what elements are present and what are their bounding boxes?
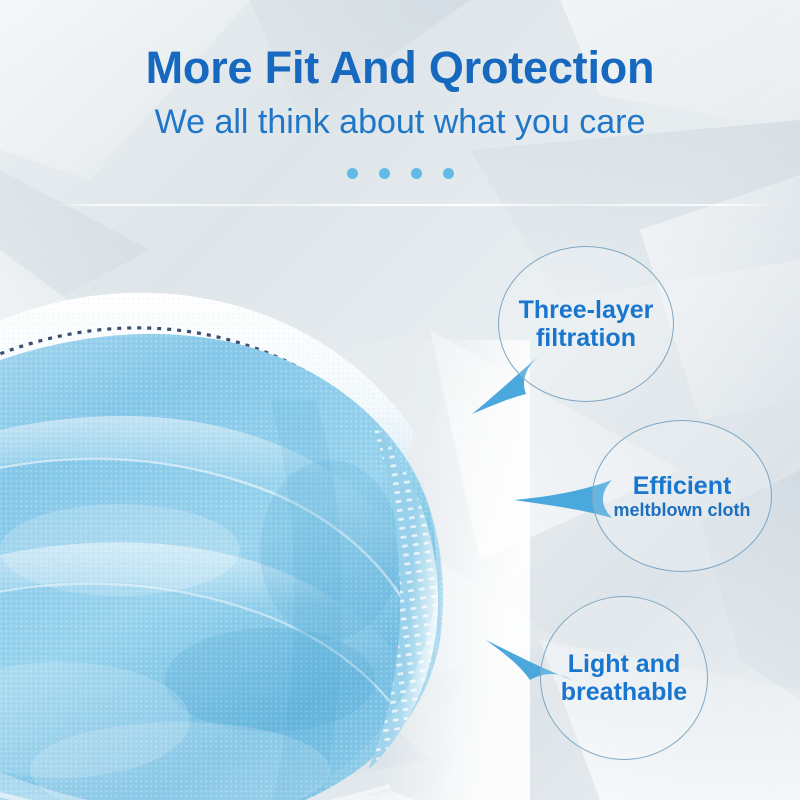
callout-efficient-meltblown-cloth[interactable]: Efficient meltblown cloth — [592, 420, 777, 585]
dot-icon — [379, 168, 390, 179]
page-subtitle: We all think about what you care — [0, 103, 800, 142]
callout-text: Light and breathable — [561, 650, 687, 706]
dot-icon — [443, 168, 454, 179]
callout-three-layer-filtration[interactable]: Three-layer filtration — [498, 246, 678, 426]
dot-icon — [347, 168, 358, 179]
decorative-dots — [0, 168, 800, 179]
callout-circle: Light and breathable — [540, 596, 708, 760]
callout-circle: Three-layer filtration — [498, 246, 674, 402]
callout-light-and-breathable[interactable]: Light and breathable — [540, 596, 715, 771]
dot-icon — [411, 168, 422, 179]
banner-root: More Fit And Qrotection We all think abo… — [0, 0, 800, 800]
page-title: More Fit And Qrotection — [0, 42, 800, 94]
callout-line-2: filtration — [519, 324, 654, 352]
surgical-mask-photo — [0, 250, 530, 800]
callout-line-2: breathable — [561, 678, 687, 706]
callout-line-1: Light and — [561, 650, 687, 678]
callout-text: Efficient meltblown cloth — [614, 472, 751, 520]
callout-line-1: Efficient — [614, 472, 751, 500]
callout-circle: Efficient meltblown cloth — [592, 420, 772, 572]
callout-text: Three-layer filtration — [519, 296, 654, 352]
header-divider — [55, 204, 780, 206]
callout-line-2: meltblown cloth — [614, 500, 751, 520]
callout-line-1: Three-layer — [519, 296, 654, 324]
